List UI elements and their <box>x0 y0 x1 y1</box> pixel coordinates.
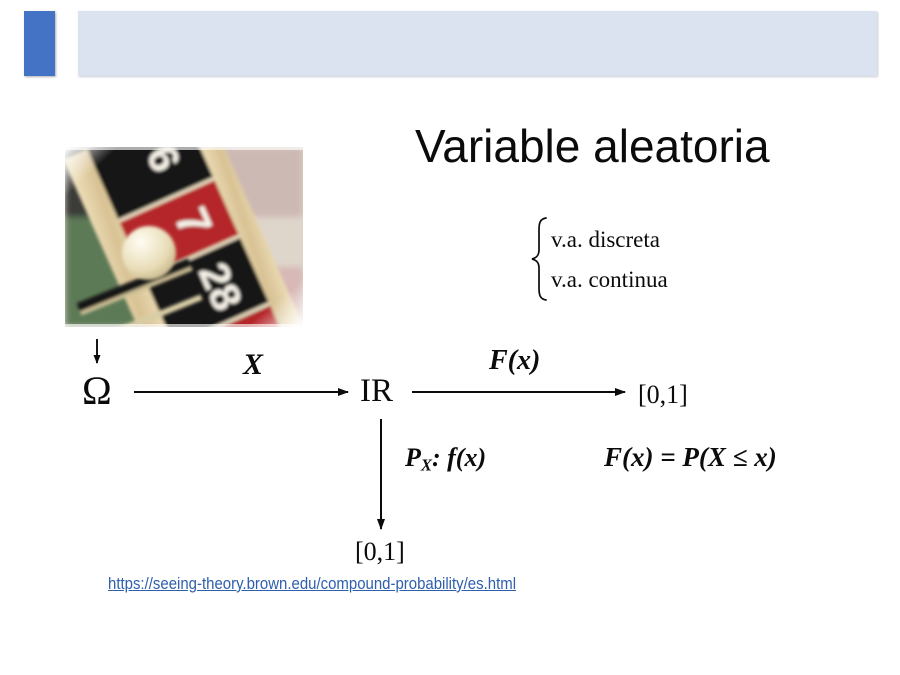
cdf-interval-label: [0,1] <box>638 380 688 410</box>
sample-space-omega: Ω <box>82 371 112 411</box>
cdf-formula: F(x) = P(X ≤ x) <box>604 442 777 473</box>
va-discreta-label: v.a. discreta <box>551 227 660 253</box>
cdf-arrow-label: F(x) <box>489 345 540 377</box>
slide-canvas: Variable aleatoria <box>0 0 900 675</box>
page-title: Variable aleatoria <box>415 117 770 175</box>
random-variable-label: X <box>243 348 263 382</box>
header-bar <box>78 11 877 76</box>
density-label-sub: X <box>421 456 432 475</box>
density-arrow-label: PX: f(x) <box>405 443 486 476</box>
density-label-main: P <box>405 443 421 472</box>
seeing-theory-link[interactable]: https://seeing-theory.brown.edu/compound… <box>108 574 516 594</box>
va-continua-label: v.a. continua <box>551 267 668 293</box>
classification-brace <box>529 216 551 302</box>
header-accent-square <box>24 11 55 76</box>
roulette-wheel-photo: 6 7 28 1 <box>65 147 303 327</box>
density-label-rest: : f(x) <box>432 443 486 472</box>
density-interval-label: [0,1] <box>355 537 405 567</box>
real-line-label: IR <box>360 375 393 408</box>
